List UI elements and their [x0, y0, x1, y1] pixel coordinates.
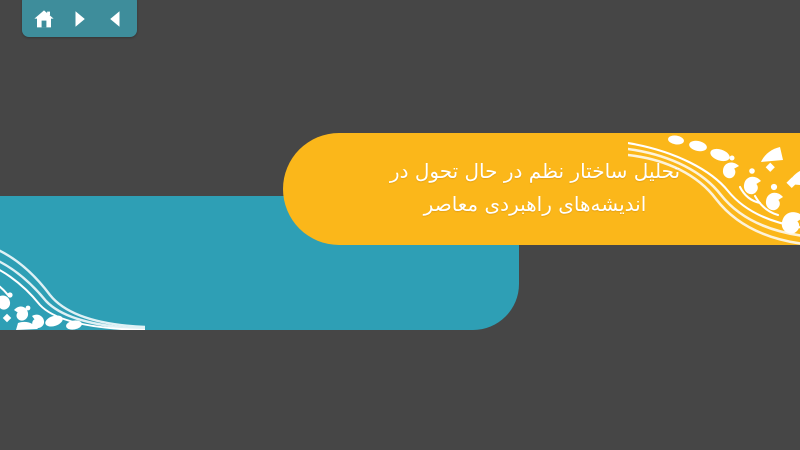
forward-icon[interactable] [69, 8, 91, 30]
slide-canvas: تحلیل ساختار نظم در حال تحول در اندیشه‌ه… [0, 0, 800, 450]
navigation-bar [22, 0, 137, 37]
orange-title-band: تحلیل ساختار نظم در حال تحول در اندیشه‌ه… [283, 133, 800, 245]
page-title: تحلیل ساختار نظم در حال تحول در اندیشه‌ه… [329, 155, 741, 221]
home-icon[interactable] [33, 8, 55, 30]
title-line-2: اندیشه‌های راهبردی معاصر [329, 188, 741, 221]
teal-arabesque-ornament-icon [0, 215, 145, 330]
back-icon[interactable] [104, 8, 126, 30]
title-line-1: تحلیل ساختار نظم در حال تحول در [329, 155, 741, 188]
